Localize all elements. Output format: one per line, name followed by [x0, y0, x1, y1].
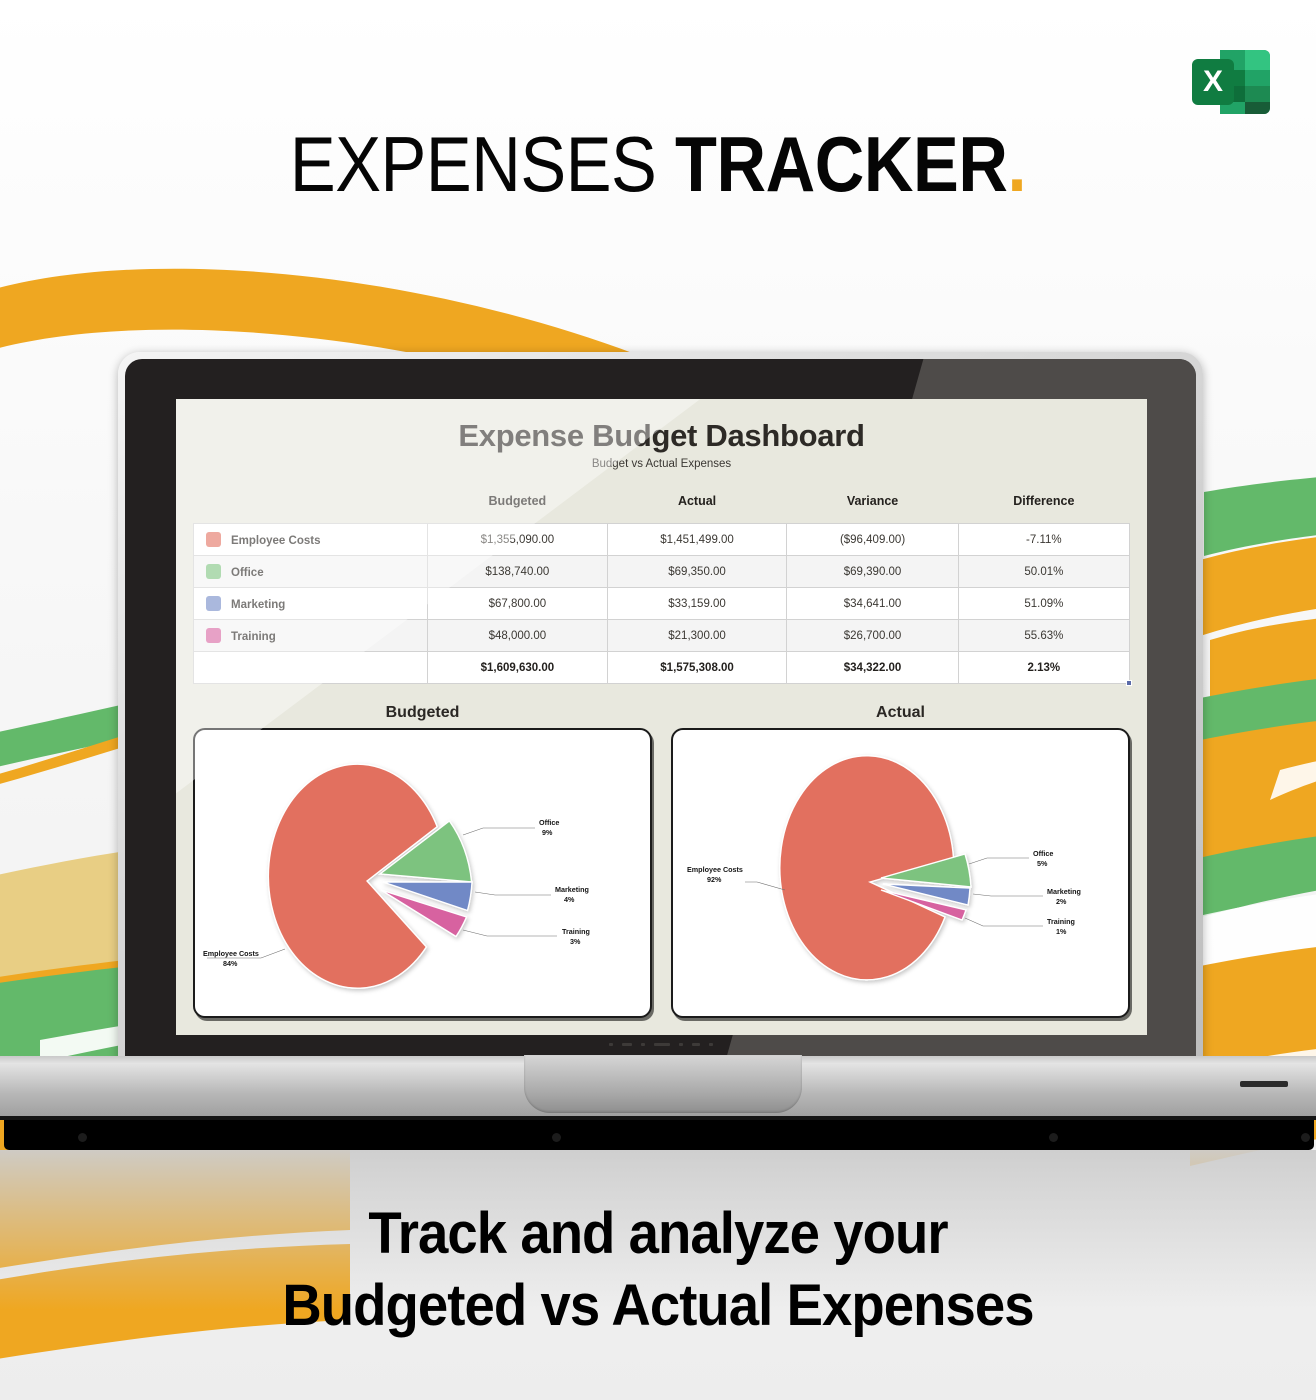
- cell-actual: $33,159.00: [607, 588, 787, 620]
- pie-percent-office: 9%: [542, 828, 553, 837]
- cell-variance: $69,390.00: [787, 556, 958, 588]
- pie-percent-employee-costs: 84%: [223, 959, 238, 968]
- total-difference-cell: 2.13%: [958, 652, 1129, 684]
- chart-actual-title: Actual: [671, 704, 1130, 722]
- pie-label-office: Office: [1033, 849, 1053, 858]
- leader-line-office: [969, 858, 1029, 864]
- pie-label-training: Training: [1047, 917, 1075, 926]
- total-difference: 2.13%: [1028, 662, 1061, 674]
- budget-table-wrapper: Budgeted Actual Variance Difference Empl…: [193, 494, 1130, 684]
- pie-label-office: Office: [539, 818, 559, 827]
- laptop-base: [0, 1056, 1316, 1118]
- category-label: Marketing: [231, 599, 285, 611]
- laptop-base-front: [4, 1120, 1314, 1150]
- category-label: Employee Costs: [231, 535, 320, 547]
- table-total-row[interactable]: $1,609,630.00 $1,575,308.00 $34,322.00 2…: [194, 652, 1130, 684]
- chart-actual-frame[interactable]: Office 5% Marketing 2% Training 1%: [671, 728, 1130, 1018]
- pie-percent-training: 3%: [570, 937, 581, 946]
- chart-actual: Actual: [671, 704, 1130, 1022]
- pie-label-employee-costs: Employee Costs: [203, 949, 259, 958]
- leader-line-office: [463, 828, 535, 835]
- table-row[interactable]: Training $48,000.00 $21,300.00 $26,700.0…: [194, 620, 1130, 652]
- cell-variance: ($96,409.00): [787, 524, 958, 556]
- laptop-base-port: [1240, 1081, 1288, 1087]
- leader-line-training: [965, 918, 1043, 926]
- leader-line-marketing: [973, 894, 1043, 896]
- excel-logo: X: [1186, 38, 1276, 126]
- cell-difference: 51.09%: [958, 588, 1129, 620]
- leader-line-marketing: [475, 892, 551, 895]
- pie-percent-office: 5%: [1037, 859, 1048, 868]
- cell-difference: 50.01%: [958, 556, 1129, 588]
- cell-budgeted: $138,740.00: [428, 556, 608, 588]
- pie-label-marketing: Marketing: [555, 885, 589, 894]
- page-title-bold: TRACKER: [675, 120, 1007, 208]
- cell-budgeted: $48,000.00: [428, 620, 608, 652]
- total-budgeted: $1,609,630.00: [428, 652, 608, 684]
- total-label: [194, 652, 428, 684]
- tagline-line-2: Budgeted vs Actual Expenses: [39, 1270, 1276, 1342]
- table-row[interactable]: Marketing $67,800.00 $33,159.00 $34,641.…: [194, 588, 1130, 620]
- cell-variance: $34,641.00: [787, 588, 958, 620]
- page-title-thin: EXPENSES: [290, 120, 657, 208]
- budget-table: Budgeted Actual Variance Difference Empl…: [193, 494, 1130, 684]
- legend-swatch-icon: [206, 596, 221, 611]
- cell-difference: 55.63%: [958, 620, 1129, 652]
- total-variance: $34,322.00: [787, 652, 958, 684]
- cell-actual: $1,451,499.00: [607, 524, 787, 556]
- cell-actual: $21,300.00: [607, 620, 787, 652]
- chart-budgeted: Budgeted: [193, 704, 652, 1022]
- page-title: EXPENSES TRACKER.: [79, 122, 1237, 206]
- dashboard-title: Expense Budget Dashboard: [176, 419, 1147, 453]
- dashboard-subtitle: Budget vs Actual Expenses: [176, 458, 1147, 470]
- row-category-office: Office: [194, 556, 428, 588]
- pie-label-employee-costs: Employee Costs: [687, 865, 743, 874]
- pie-actual-svg: Office 5% Marketing 2% Training 1%: [673, 730, 1130, 1018]
- legend-swatch-icon: [206, 532, 221, 547]
- excel-logo-letter: X: [1203, 65, 1223, 98]
- charts-row: Budgeted: [193, 704, 1130, 1022]
- pie-label-training: Training: [562, 927, 590, 936]
- footer-tagline: Track and analyze your Budgeted vs Actua…: [39, 1198, 1276, 1342]
- chart-budgeted-frame[interactable]: Office 9% Marketing 4% Training 3%: [193, 728, 652, 1018]
- page-title-dot: .: [1008, 120, 1027, 208]
- legend-swatch-icon: [206, 628, 221, 643]
- laptop-bezel: Expense Budget Dashboard Budget vs Actua…: [125, 359, 1196, 1059]
- table-header-row: Budgeted Actual Variance Difference: [194, 494, 1130, 524]
- excel-logo-svg: X: [1186, 38, 1276, 126]
- cell-budgeted: $67,800.00: [428, 588, 608, 620]
- pie-percent-employee-costs: 92%: [707, 875, 722, 884]
- column-header-actual: Actual: [607, 494, 787, 524]
- pie-percent-marketing: 4%: [564, 895, 575, 904]
- row-category-marketing: Marketing: [194, 588, 428, 620]
- category-label: Training: [231, 631, 276, 643]
- tagline-line-1: Track and analyze your: [39, 1198, 1276, 1270]
- pie-percent-marketing: 2%: [1056, 897, 1067, 906]
- leader-line-training: [463, 930, 557, 936]
- leader-line-employee-costs: [745, 882, 785, 890]
- total-actual: $1,575,308.00: [607, 652, 787, 684]
- pie-label-marketing: Marketing: [1047, 887, 1081, 896]
- column-header-difference: Difference: [958, 494, 1129, 524]
- table-row[interactable]: Employee Costs $1,355,090.00 $1,451,499.…: [194, 524, 1130, 556]
- poster-canvas: X EXPENSES TRACKER. Expense Budget Dashb…: [0, 0, 1316, 1400]
- chart-budgeted-title: Budgeted: [193, 704, 652, 722]
- cell-budgeted: $1,355,090.00: [428, 524, 608, 556]
- column-header-category: [194, 494, 428, 524]
- expense-dashboard: Expense Budget Dashboard Budget vs Actua…: [176, 399, 1147, 1035]
- column-header-budgeted: Budgeted: [428, 494, 608, 524]
- cell-difference: -7.11%: [958, 524, 1129, 556]
- pie-percent-training: 1%: [1056, 927, 1067, 936]
- category-label: Office: [231, 567, 264, 579]
- cell-variance: $26,700.00: [787, 620, 958, 652]
- pie-budgeted-svg: Office 9% Marketing 4% Training 3%: [195, 730, 652, 1018]
- row-category-employee-costs: Employee Costs: [194, 524, 428, 556]
- legend-swatch-icon: [206, 564, 221, 579]
- laptop-base-notch: [524, 1055, 802, 1113]
- laptop-screen: Expense Budget Dashboard Budget vs Actua…: [176, 399, 1147, 1035]
- row-category-training: Training: [194, 620, 428, 652]
- cell-actual: $69,350.00: [607, 556, 787, 588]
- column-header-variance: Variance: [787, 494, 958, 524]
- laptop-mockup: Expense Budget Dashboard Budget vs Actua…: [118, 352, 1203, 1064]
- speaker-grille: [125, 1037, 1196, 1051]
- range-selection-handle[interactable]: [1126, 680, 1132, 686]
- table-row[interactable]: Office $138,740.00 $69,350.00 $69,390.00…: [194, 556, 1130, 588]
